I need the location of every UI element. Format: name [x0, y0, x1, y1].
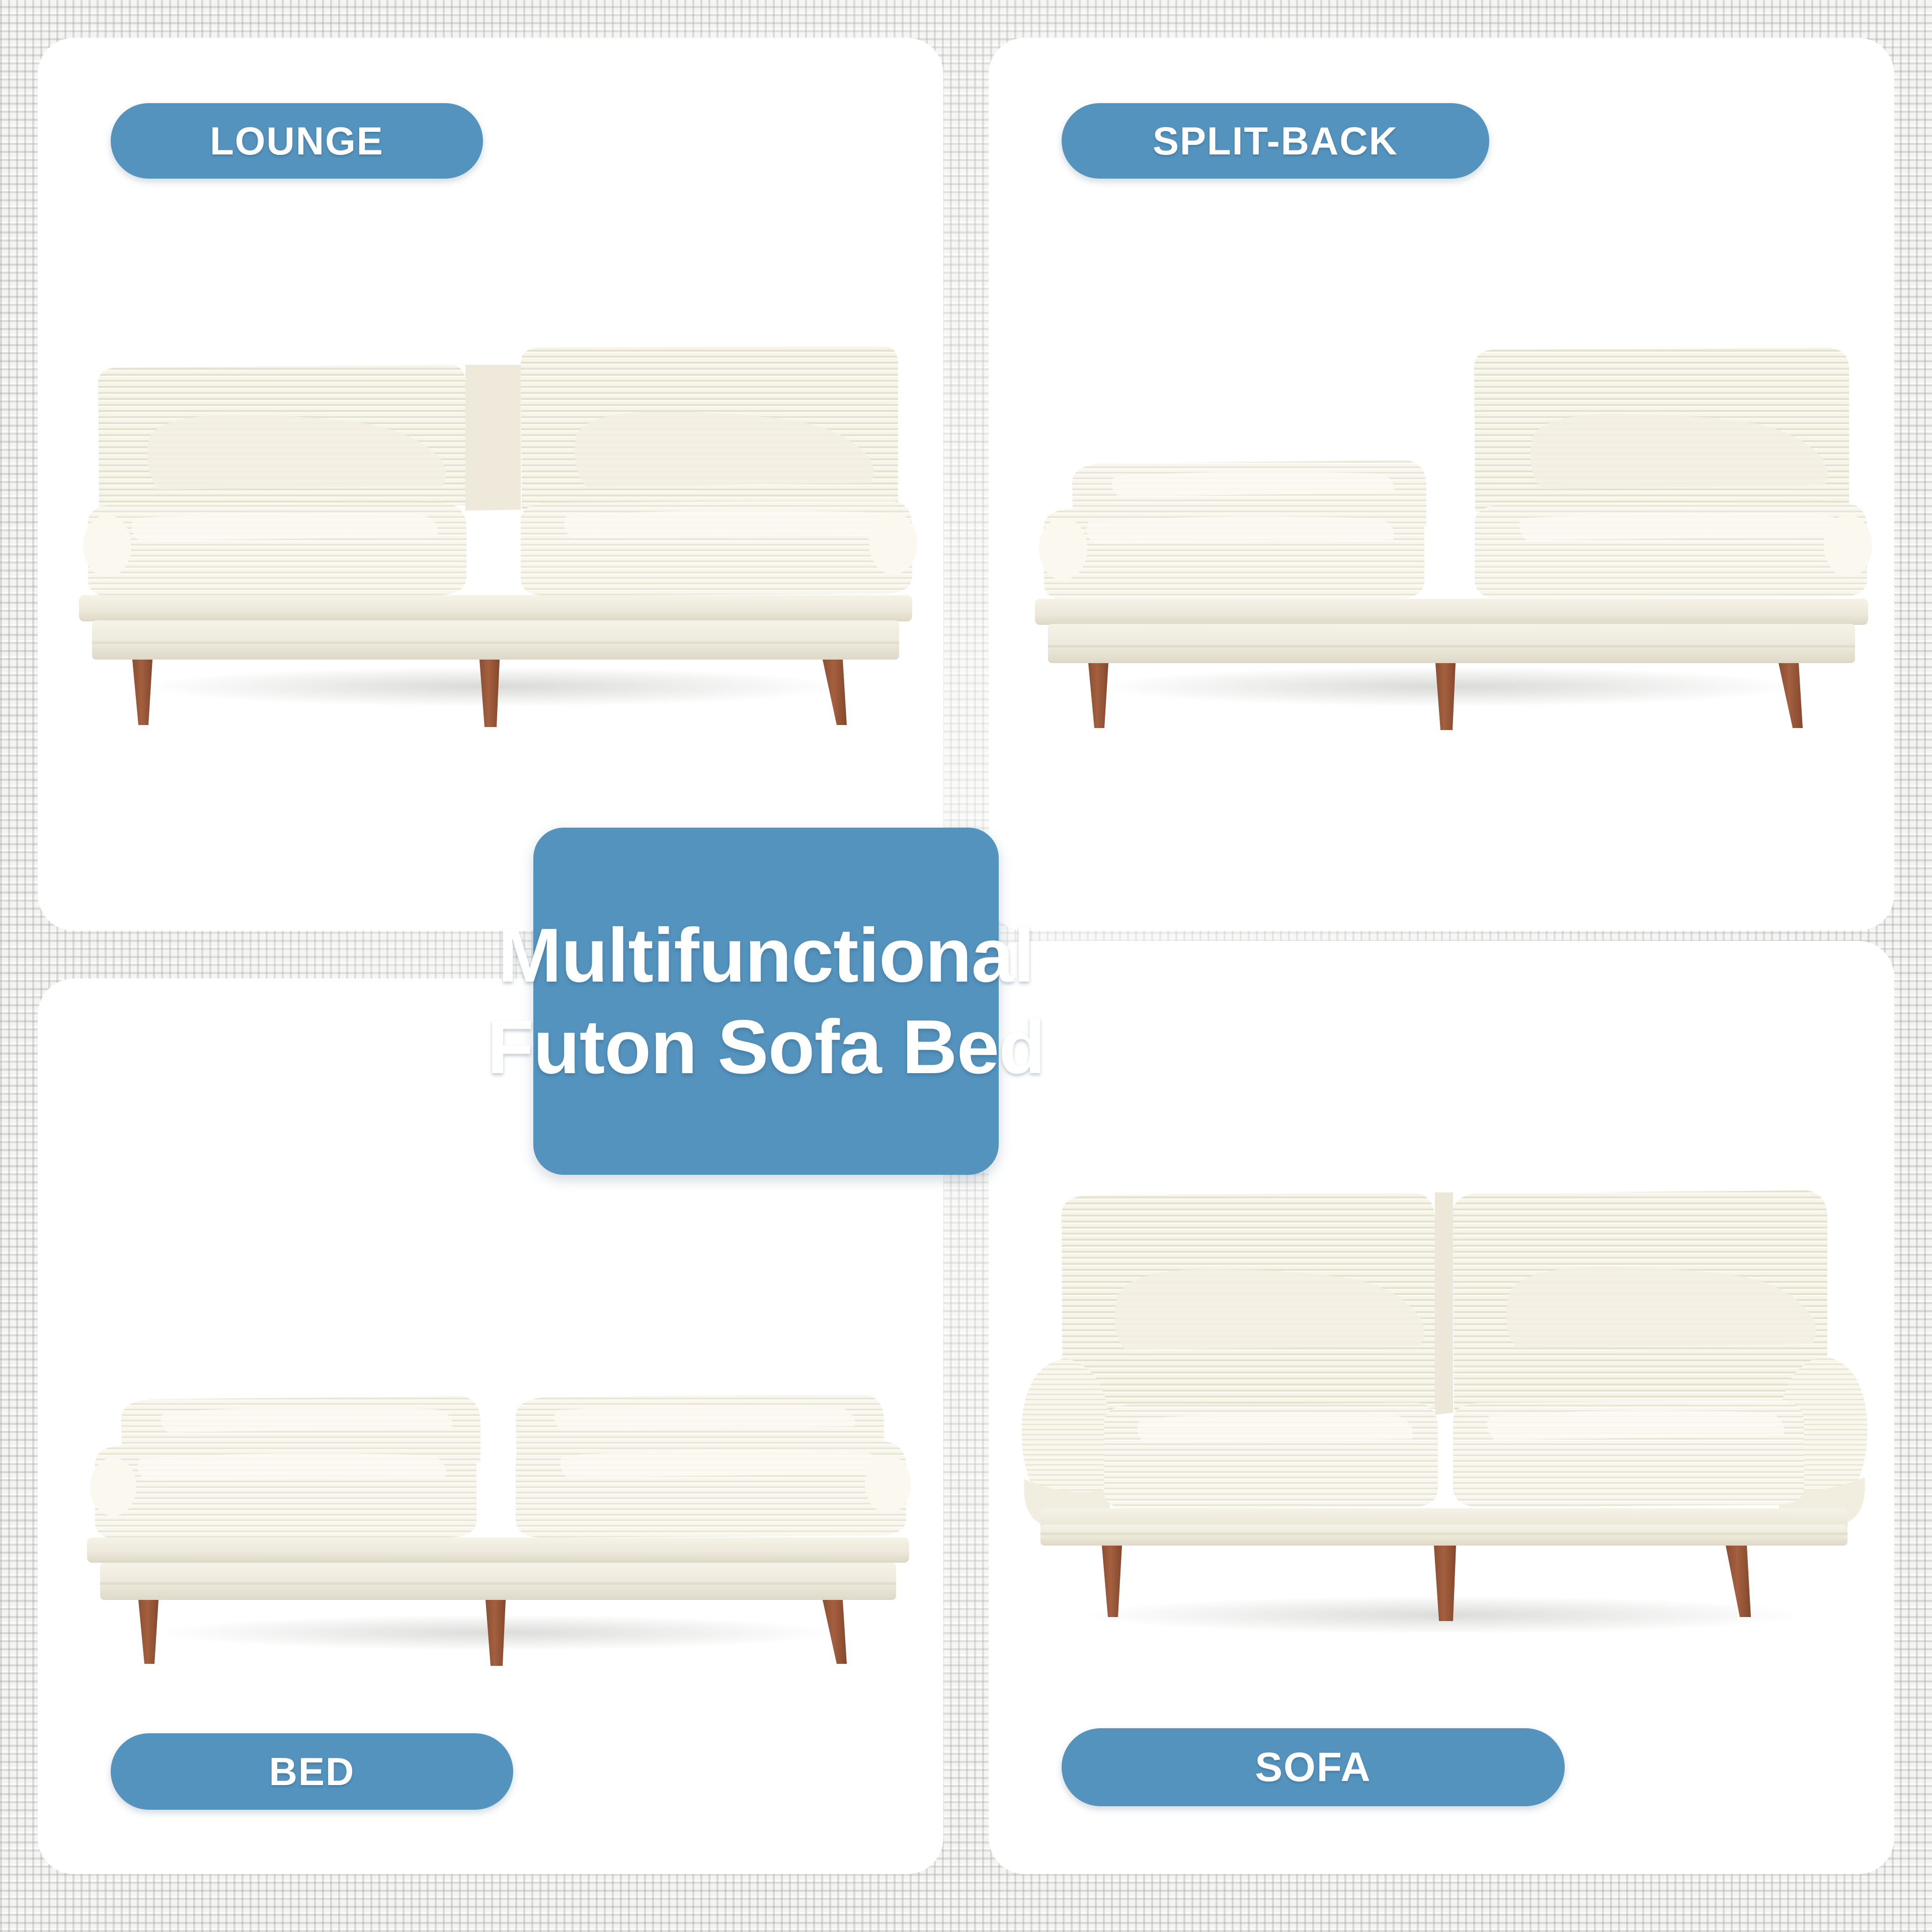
badge-bed-label: BED: [269, 1749, 355, 1795]
illustration-splitback-mode: [1024, 289, 1874, 742]
badge-lounge: LOUNGE: [111, 103, 483, 179]
illustration-sofa-mode: [1011, 1172, 1877, 1680]
mode-card-lounge[interactable]: LOUNGE: [38, 38, 943, 931]
badge-lounge-label: LOUNGE: [210, 118, 384, 164]
mode-card-sofa[interactable]: SOFA: [989, 941, 1894, 1874]
product-title-plate: Multifunctional Futon Sofa Bed: [533, 828, 999, 1175]
badge-splitback-label: SPLIT-BACK: [1153, 118, 1398, 164]
illustration-bed-mode: [73, 1270, 923, 1723]
illustration-lounge-mode: [68, 289, 918, 742]
badge-sofa-label: SOFA: [1255, 1744, 1371, 1791]
product-title-line-2: Futon Sofa Bed: [487, 1001, 1045, 1093]
badge-sofa: SOFA: [1062, 1728, 1565, 1806]
badge-splitback: SPLIT-BACK: [1062, 103, 1489, 179]
product-title-line-1: Multifunctional: [498, 910, 1034, 1001]
badge-bed: BED: [111, 1733, 513, 1810]
mode-card-splitback[interactable]: SPLIT-BACK: [989, 38, 1894, 931]
product-mode-grid: LOUNGE: [38, 38, 1894, 1874]
